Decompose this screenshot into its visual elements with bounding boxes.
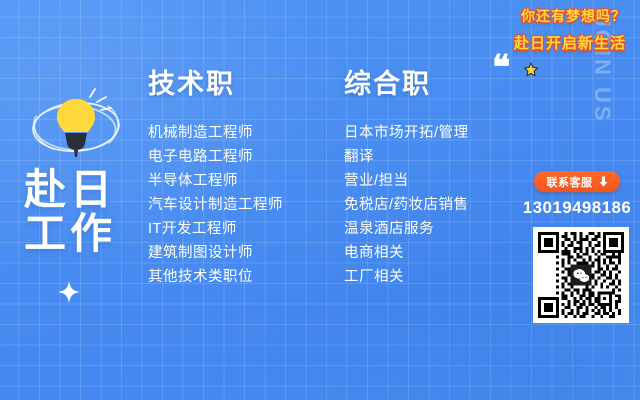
page-title: 赴日 工作	[24, 168, 144, 255]
column-heading-technical: 技术职	[148, 62, 338, 101]
slogan-line-2: 赴日开启新生活	[514, 32, 626, 53]
brand-title-line-1: 赴日	[24, 168, 144, 212]
list-item[interactable]: 汽车设计制造工程师	[148, 193, 338, 217]
list-item[interactable]: 其他技术类职位	[148, 265, 338, 289]
list-item[interactable]: 温泉酒店服务	[344, 217, 534, 241]
contact-support-label: 联系客服	[547, 174, 593, 190]
column-general-jobs: 综合职 日本市场开拓/管理 翻译 营业/担当 免税店/药妆店销售 温泉酒店服务 …	[344, 62, 534, 289]
white-sparkle-icon	[58, 281, 80, 303]
list-item[interactable]: 建筑制图设计师	[148, 241, 338, 265]
arrow-down-icon	[599, 176, 608, 187]
phone-number[interactable]: 13019498186	[520, 198, 634, 218]
list-item[interactable]: 工厂相关	[344, 265, 534, 289]
slogan-block: 你还有梦想吗？ 赴日开启新生活	[514, 6, 626, 53]
list-item[interactable]: 半导体工程师	[148, 169, 338, 193]
list-item[interactable]: IT开发工程师	[148, 217, 338, 241]
list-item[interactable]: 机械制造工程师	[148, 121, 338, 145]
slogan-line-1: 你还有梦想吗？	[514, 6, 626, 26]
column-heading-general: 综合职	[344, 62, 534, 101]
list-item[interactable]: 电子电路工程师	[148, 145, 338, 169]
list-item[interactable]: 日本市场开拓/管理	[344, 121, 534, 145]
lightbulb-icon	[22, 84, 130, 168]
list-item[interactable]: 电商相关	[344, 241, 534, 265]
list-item[interactable]: 免税店/药妆店销售	[344, 193, 534, 217]
wechat-qr-code[interactable]	[533, 227, 629, 323]
job-list-technical: 机械制造工程师 电子电路工程师 半导体工程师 汽车设计制造工程师 IT开发工程师…	[148, 121, 338, 289]
column-technical-jobs: 技术职 机械制造工程师 电子电路工程师 半导体工程师 汽车设计制造工程师 IT开…	[148, 62, 338, 289]
list-item[interactable]: 翻译	[344, 145, 534, 169]
qr-code-icon	[538, 232, 624, 318]
list-item[interactable]: 营业/担当	[344, 169, 534, 193]
poster-canvas: JOIN US 你还有梦想吗？ 赴日开启新生活 ❝ 赴日 工作	[0, 0, 640, 400]
job-list-general: 日本市场开拓/管理 翻译 营业/担当 免税店/药妆店销售 温泉酒店服务 电商相关…	[344, 121, 534, 289]
contact-support-button[interactable]: 联系客服	[534, 171, 620, 192]
brand-title-line-2: 工作	[24, 212, 144, 256]
